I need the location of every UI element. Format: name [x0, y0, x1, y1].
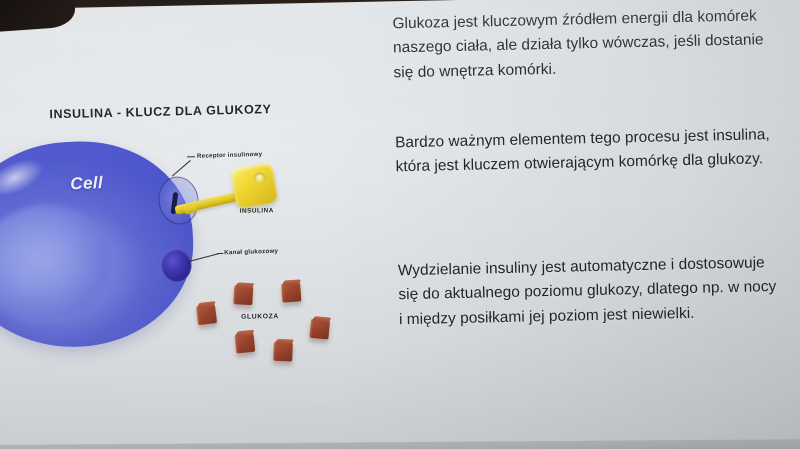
glucose-molecule: [196, 304, 217, 325]
glucose-molecule: [281, 282, 301, 302]
cell-illustration: [0, 136, 198, 352]
glucose-molecule-group: [0, 1, 388, 6]
glucose-molecule: [309, 319, 330, 340]
callout-receptor: Receptor insulinowy: [197, 151, 262, 160]
paragraph-2: Bardzo ważnym elementem tego procesu jes…: [395, 123, 774, 180]
callout-insulin: INSULINA: [240, 207, 274, 214]
cell-label: Cell: [70, 173, 104, 194]
projected-slide: INSULINA - KLUCZ DLA GLUKOZY Cell Recept…: [0, 0, 800, 449]
glucose-molecule: [233, 285, 253, 305]
insulin-key-head: [230, 162, 278, 209]
slide-photo: INSULINA - KLUCZ DLA GLUKOZY Cell Recept…: [0, 0, 800, 449]
paragraph-3: Wydzielanie insuliny jest automatyczne i…: [398, 251, 778, 332]
key-ring-hole-icon: [253, 172, 266, 185]
leader-line-receptor: [172, 160, 191, 176]
paragraph-1: Glukoza jest kluczowym źródłem energii d…: [392, 4, 772, 85]
cell-nucleus: [0, 202, 115, 326]
callout-glucose-channel: Kanał glukozowy: [224, 248, 278, 257]
cell-highlight: [0, 141, 63, 215]
leader-line-channel-horizontal: [217, 253, 223, 254]
slide-text-panel: Glukoza jest kluczowym źródłem energii d…: [392, 0, 782, 446]
glucose-molecule: [235, 333, 256, 354]
diagram-title: INSULINA - KLUCZ DLA GLUKOZY: [49, 102, 271, 121]
insulin-diagram: INSULINA - KLUCZ DLA GLUKOZY Cell Recept…: [0, 1, 394, 449]
glucose-molecule: [273, 342, 293, 362]
callout-glucose: GLUKOZA: [241, 313, 279, 320]
leader-line-receptor-horizontal: [187, 156, 195, 157]
